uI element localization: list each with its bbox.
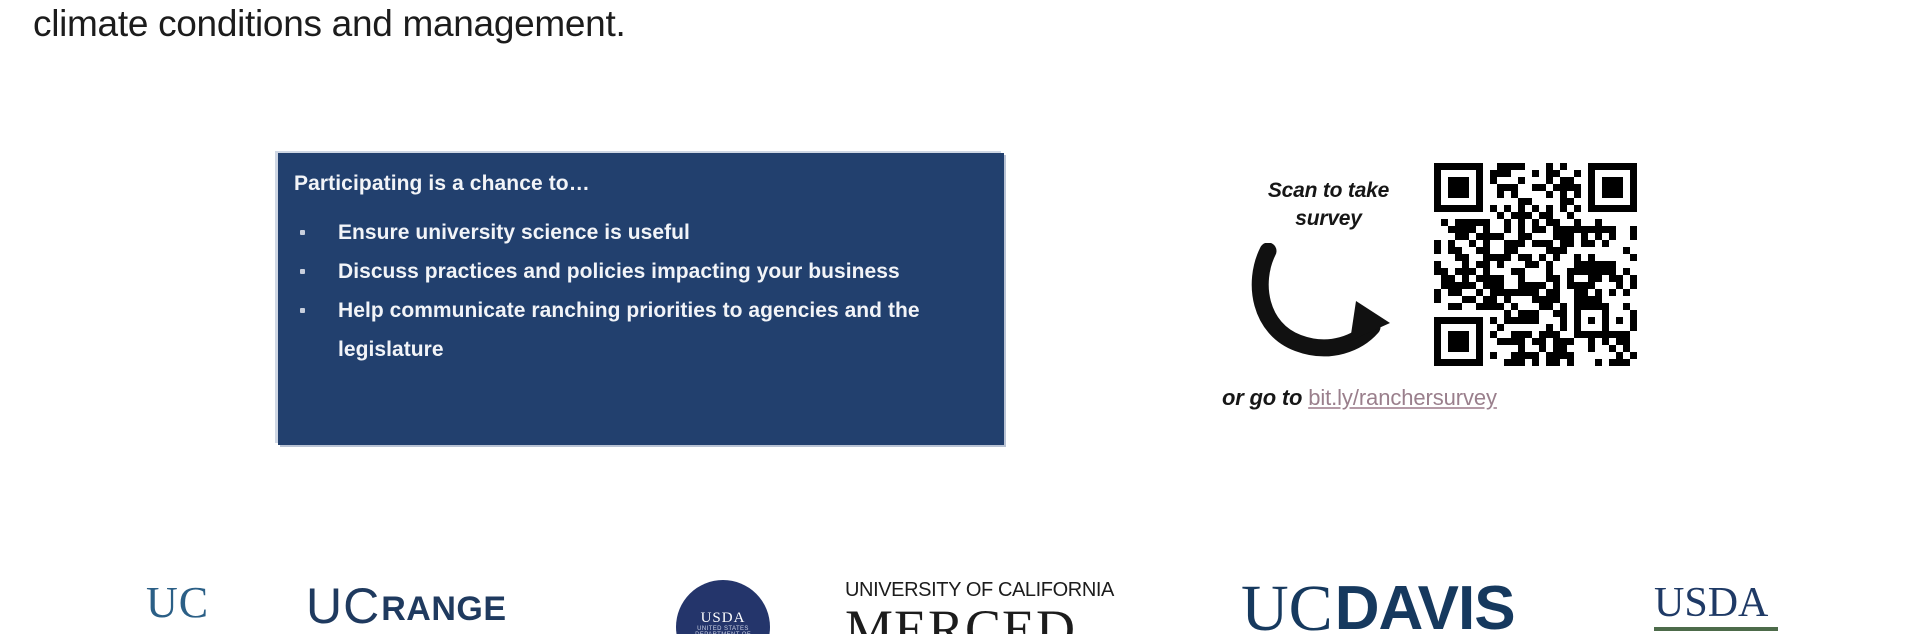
usda-seal-logo-text: USDA <box>676 610 770 627</box>
sponsor-logo-strip: UC UC RANGE USDA UNITED STATES DEPARTMEN… <box>0 578 1920 634</box>
survey-scan-block: Scan to take survey or go to bit.ly/ranc… <box>1222 165 1652 435</box>
uc-anr-logo-text: UC <box>146 578 256 628</box>
uc-davis-logo: UC DAVIS <box>1241 578 1581 634</box>
list-item-label: Help communicate ranching priorities to … <box>338 299 920 361</box>
usda-seal-logo-subtext: UNITED STATES DEPARTMENT OF AGRICULTURE <box>676 626 770 634</box>
uc-merced-logo-text: MERCED <box>845 602 1165 634</box>
list-item-label: Ensure university science is useful <box>338 221 690 244</box>
usda-wordmark-logo: USDA <box>1654 580 1814 634</box>
uc-davis-logo-uc: UC <box>1241 578 1333 634</box>
list-item: Discuss practices and policies impacting… <box>294 252 990 291</box>
survey-url-line: or go to bit.ly/ranchersurvey <box>1222 383 1652 413</box>
uc-merced-logo: UNIVERSITY OF CALIFORNIA MERCED <box>845 578 1165 634</box>
slide-canvas: climate conditions and management. Parti… <box>0 0 1920 634</box>
participation-callout-box: Participating is a chance to… Ensure uni… <box>278 153 1004 445</box>
qr-code-icon[interactable] <box>1434 163 1637 366</box>
bullet-dot-icon <box>300 230 305 235</box>
page-title: climate conditions and management. <box>33 2 625 46</box>
callout-title: Participating is a chance to… <box>294 171 990 197</box>
callout-bullet-list: Ensure university science is useful Disc… <box>294 213 990 369</box>
callout-content: Participating is a chance to… Ensure uni… <box>294 171 990 369</box>
usda-seal-logo: USDA UNITED STATES DEPARTMENT OF AGRICUL… <box>676 580 770 634</box>
curved-arrow-icon <box>1250 243 1410 358</box>
bullet-dot-icon <box>300 269 305 274</box>
bullet-dot-icon <box>300 308 305 313</box>
list-item: Ensure university science is useful <box>294 213 990 252</box>
scan-instruction-label: Scan to take survey <box>1236 177 1421 233</box>
uc-anr-logo: UC <box>146 578 256 634</box>
uc-davis-logo-word: DAVIS <box>1335 578 1515 634</box>
uc-range-logo: UC RANGE <box>306 582 556 634</box>
list-item-label: Discuss practices and policies impacting… <box>338 260 900 283</box>
usda-wordmark-logo-text: USDA <box>1654 580 1814 626</box>
uc-range-logo-word: RANGE <box>381 588 506 630</box>
survey-link[interactable]: bit.ly/ranchersurvey <box>1308 385 1497 410</box>
usda-wordmark-rule <box>1654 627 1778 631</box>
goto-prefix-label: or go to <box>1222 385 1308 410</box>
list-item: Help communicate ranching priorities to … <box>294 291 990 369</box>
uc-range-logo-uc: UC <box>306 582 380 630</box>
